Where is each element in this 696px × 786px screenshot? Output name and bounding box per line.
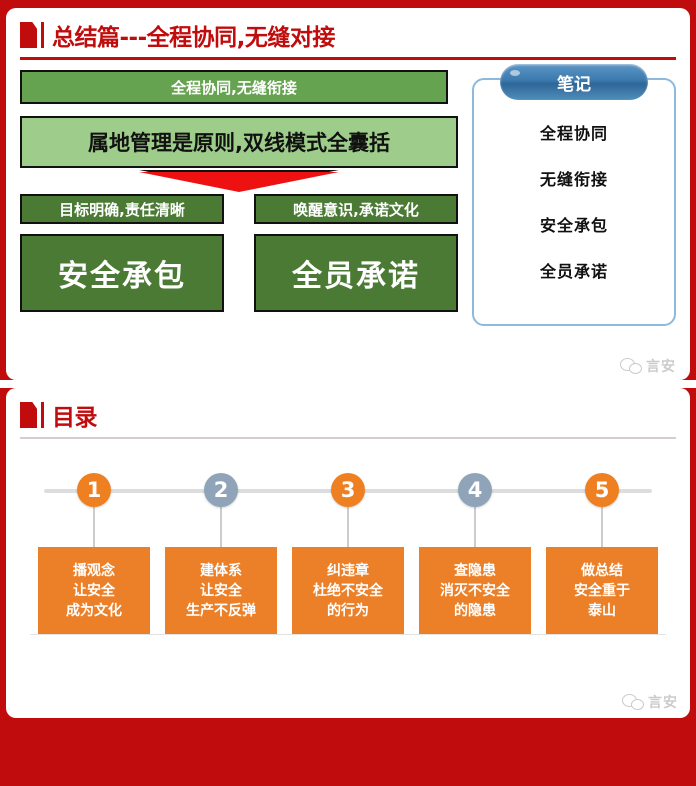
step-line: 消灭不安全 bbox=[440, 581, 510, 601]
step-line: 让安全 bbox=[200, 581, 242, 601]
step-number-badge: 4 bbox=[458, 473, 492, 507]
page-flag-icon bbox=[20, 402, 37, 428]
pillar-subtitle: 唤醒意识,承诺文化 bbox=[254, 194, 458, 224]
step-card: 做总结 安全重于 泰山 bbox=[546, 547, 658, 635]
notes-item: 安全承包 bbox=[540, 212, 608, 236]
step-line: 的行为 bbox=[327, 601, 369, 621]
wechat-icon bbox=[620, 358, 642, 374]
notes-item: 无缝衔接 bbox=[540, 166, 608, 190]
pillar-columns: 目标明确,责任清晰 安全承包 唤醒意识,承诺文化 全员承诺 bbox=[20, 194, 458, 312]
step-line: 查隐患 bbox=[454, 561, 496, 581]
slide1-notes-column: 笔记 全程协同 无缝衔接 安全承包 全员承诺 bbox=[472, 70, 676, 326]
slide-summary: 总结篇---全程协同,无缝对接 全程协同,无缝衔接 属地管理是原则,双线模式全囊… bbox=[6, 8, 690, 380]
step-line: 安全重于 bbox=[574, 581, 630, 601]
notes-item: 全程协同 bbox=[540, 120, 608, 144]
step-card: 播观念 让安全 成为文化 bbox=[38, 547, 150, 635]
page-title: 目录 bbox=[52, 398, 97, 432]
notes-header-pill: 笔记 bbox=[500, 64, 648, 100]
watermark-label: 言安 bbox=[646, 356, 676, 376]
watermark: 言安 bbox=[620, 356, 676, 376]
arrow-container bbox=[20, 168, 458, 194]
step-line: 建体系 bbox=[200, 561, 242, 581]
step-line: 纠违章 bbox=[327, 561, 369, 581]
title-divider-icon bbox=[41, 402, 44, 428]
notes-panel: 笔记 全程协同 无缝衔接 安全承包 全员承诺 bbox=[472, 78, 676, 326]
notes-item: 全员承诺 bbox=[540, 258, 608, 282]
timeline-item[interactable]: 4 查隐患 消灭不安全 的隐患 bbox=[419, 453, 531, 635]
timeline-item[interactable]: 2 建体系 让安全 生产不反弹 bbox=[165, 453, 277, 635]
step-card: 查隐患 消灭不安全 的隐患 bbox=[419, 547, 531, 635]
connector-line bbox=[474, 507, 476, 547]
slide-contents: 目录 1 播观念 让安全 成为文化 2 bbox=[6, 388, 690, 718]
connector-line bbox=[347, 507, 349, 547]
timeline-nodes: 1 播观念 让安全 成为文化 2 建体系 让安全 生产不反弹 bbox=[24, 453, 672, 635]
step-card: 纠违章 杜绝不安全 的行为 bbox=[292, 547, 404, 635]
principle-box: 属地管理是原则,双线模式全囊括 bbox=[20, 116, 458, 168]
pillar-subtitle: 目标明确,责任清晰 bbox=[20, 194, 224, 224]
connector-line bbox=[220, 507, 222, 547]
step-card: 建体系 让安全 生产不反弹 bbox=[165, 547, 277, 635]
pillar-column: 目标明确,责任清晰 安全承包 bbox=[20, 194, 224, 312]
wechat-icon bbox=[622, 694, 644, 710]
step-line: 的隐患 bbox=[454, 601, 496, 621]
step-line: 生产不反弹 bbox=[186, 601, 256, 621]
step-number-badge: 3 bbox=[331, 473, 365, 507]
slide1-main-column: 全程协同,无缝衔接 属地管理是原则,双线模式全囊括 目标明确,责任清晰 安全承包… bbox=[20, 70, 458, 326]
slide1-body: 全程协同,无缝衔接 属地管理是原则,双线模式全囊括 目标明确,责任清晰 安全承包… bbox=[6, 60, 690, 326]
watermark: 言安 bbox=[622, 692, 678, 712]
watermark-label: 言安 bbox=[648, 692, 678, 712]
step-number-badge: 2 bbox=[204, 473, 238, 507]
slide2-body: 1 播观念 让安全 成为文化 2 建体系 让安全 生产不反弹 bbox=[6, 439, 690, 691]
slide-gap bbox=[0, 380, 696, 388]
pillar-column: 唤醒意识,承诺文化 全员承诺 bbox=[254, 194, 458, 312]
connector-line bbox=[93, 507, 95, 547]
step-number-badge: 5 bbox=[585, 473, 619, 507]
down-arrow-icon bbox=[139, 172, 339, 192]
title-divider-icon bbox=[41, 22, 44, 48]
slide1-title-row: 总结篇---全程协同,无缝对接 bbox=[6, 8, 690, 54]
footer-divider bbox=[30, 634, 666, 635]
connector-line bbox=[601, 507, 603, 547]
slide2-title-row: 目录 bbox=[6, 388, 690, 434]
pillar-title: 全员承诺 bbox=[254, 234, 458, 312]
slide-deck: 总结篇---全程协同,无缝对接 全程协同,无缝衔接 属地管理是原则,双线模式全囊… bbox=[0, 0, 696, 786]
step-number-badge: 1 bbox=[77, 473, 111, 507]
timeline-item[interactable]: 3 纠违章 杜绝不安全 的行为 bbox=[292, 453, 404, 635]
pillar-title: 安全承包 bbox=[20, 234, 224, 312]
step-line: 播观念 bbox=[73, 561, 115, 581]
step-line: 泰山 bbox=[588, 601, 616, 621]
step-line: 杜绝不安全 bbox=[313, 581, 383, 601]
banner-box: 全程协同,无缝衔接 bbox=[20, 70, 448, 104]
timeline-item[interactable]: 5 做总结 安全重于 泰山 bbox=[546, 453, 658, 635]
step-line: 做总结 bbox=[581, 561, 623, 581]
page-flag-icon bbox=[20, 22, 37, 48]
page-title: 总结篇---全程协同,无缝对接 bbox=[52, 18, 335, 52]
step-line: 成为文化 bbox=[66, 601, 122, 621]
timeline-item[interactable]: 1 播观念 让安全 成为文化 bbox=[38, 453, 150, 635]
notes-list: 全程协同 无缝衔接 安全承包 全员承诺 bbox=[474, 80, 674, 282]
step-line: 让安全 bbox=[73, 581, 115, 601]
